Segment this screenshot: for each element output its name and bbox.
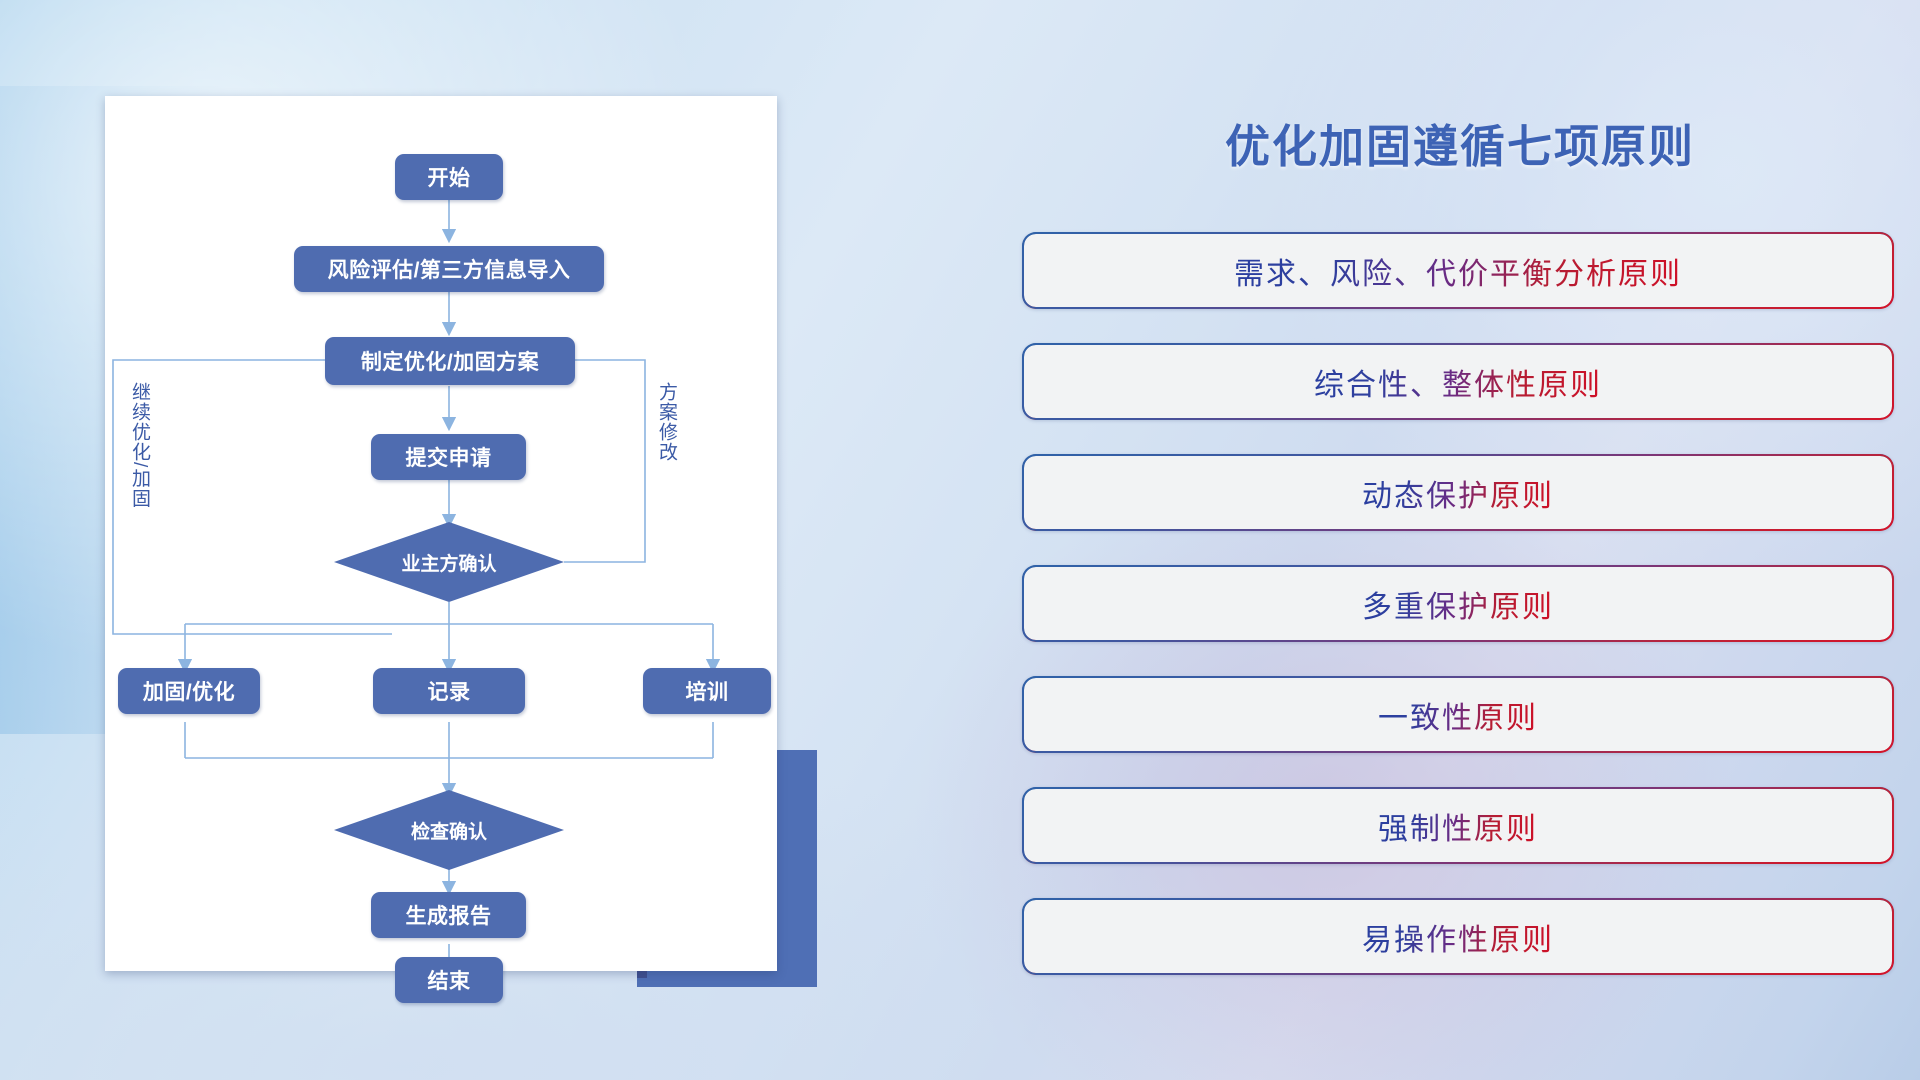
- principles-panel: 优化加固遵循七项原则 需求、风险、代价平衡分析原则 综合性、整体性原则 动态保护…: [1000, 0, 1920, 1080]
- flow-edge-label-plan-revision: 方案修改: [657, 382, 676, 462]
- flow-node-end-label: 结束: [428, 965, 471, 995]
- principle-item-7[interactable]: 易操作性原则: [1022, 898, 1894, 975]
- principle-item-2[interactable]: 综合性、整体性原则: [1022, 343, 1894, 420]
- flowchart-card: 开始 风险评估/第三方信息导入 制定优化/加固方案 提交申请 业主方确认 加固/…: [105, 96, 777, 971]
- flow-node-submit-application-label: 提交申请: [406, 442, 492, 472]
- flow-node-submit-application: 提交申请: [371, 434, 526, 480]
- principles-list: 需求、风险、代价平衡分析原则 综合性、整体性原则 动态保护原则 多重保护原则 一…: [1022, 232, 1894, 1009]
- principle-item-5[interactable]: 一致性原则: [1022, 676, 1894, 753]
- flow-node-record: 记录: [373, 668, 525, 714]
- principle-item-2-label: 综合性、整体性原则: [1314, 360, 1602, 404]
- flow-node-plan: 制定优化/加固方案: [325, 337, 575, 385]
- flow-node-reinforce-label: 加固/优化: [143, 676, 235, 706]
- principle-item-5-label: 一致性原则: [1378, 693, 1538, 737]
- flow-node-record-label: 记录: [428, 676, 471, 706]
- flow-node-end: 结束: [395, 957, 503, 1003]
- flow-node-start-label: 开始: [428, 162, 471, 192]
- flow-node-risk-assessment-label: 风险评估/第三方信息导入: [328, 254, 571, 284]
- flow-decision-inspection-confirm-label: 检查确认: [411, 817, 487, 844]
- flow-edge-label-continue-optimize: 继续优化/加固: [130, 382, 149, 508]
- flow-node-generate-report: 生成报告: [371, 892, 526, 938]
- flow-node-reinforce: 加固/优化: [118, 668, 260, 714]
- principle-item-4-label: 多重保护原则: [1362, 582, 1554, 626]
- principle-item-1[interactable]: 需求、风险、代价平衡分析原则: [1022, 232, 1894, 309]
- principle-item-6-label: 强制性原则: [1378, 804, 1538, 848]
- principle-item-1-label: 需求、风险、代价平衡分析原则: [1234, 249, 1682, 293]
- flow-node-plan-label: 制定优化/加固方案: [361, 346, 539, 376]
- flow-node-start: 开始: [395, 154, 503, 200]
- principle-item-3-label: 动态保护原则: [1362, 471, 1554, 515]
- principle-item-4[interactable]: 多重保护原则: [1022, 565, 1894, 642]
- flowchart-panel: 开始 风险评估/第三方信息导入 制定优化/加固方案 提交申请 业主方确认 加固/…: [0, 0, 870, 1080]
- flow-node-training: 培训: [643, 668, 771, 714]
- flow-node-risk-assessment: 风险评估/第三方信息导入: [294, 246, 604, 292]
- flow-node-training-label: 培训: [686, 676, 729, 706]
- principles-title: 优化加固遵循七项原则: [1000, 110, 1920, 175]
- flow-decision-owner-confirm-label: 业主方确认: [401, 549, 496, 576]
- principle-item-6[interactable]: 强制性原则: [1022, 787, 1894, 864]
- flow-node-generate-report-label: 生成报告: [406, 900, 492, 930]
- principle-item-3[interactable]: 动态保护原则: [1022, 454, 1894, 531]
- principle-item-7-label: 易操作性原则: [1362, 915, 1554, 959]
